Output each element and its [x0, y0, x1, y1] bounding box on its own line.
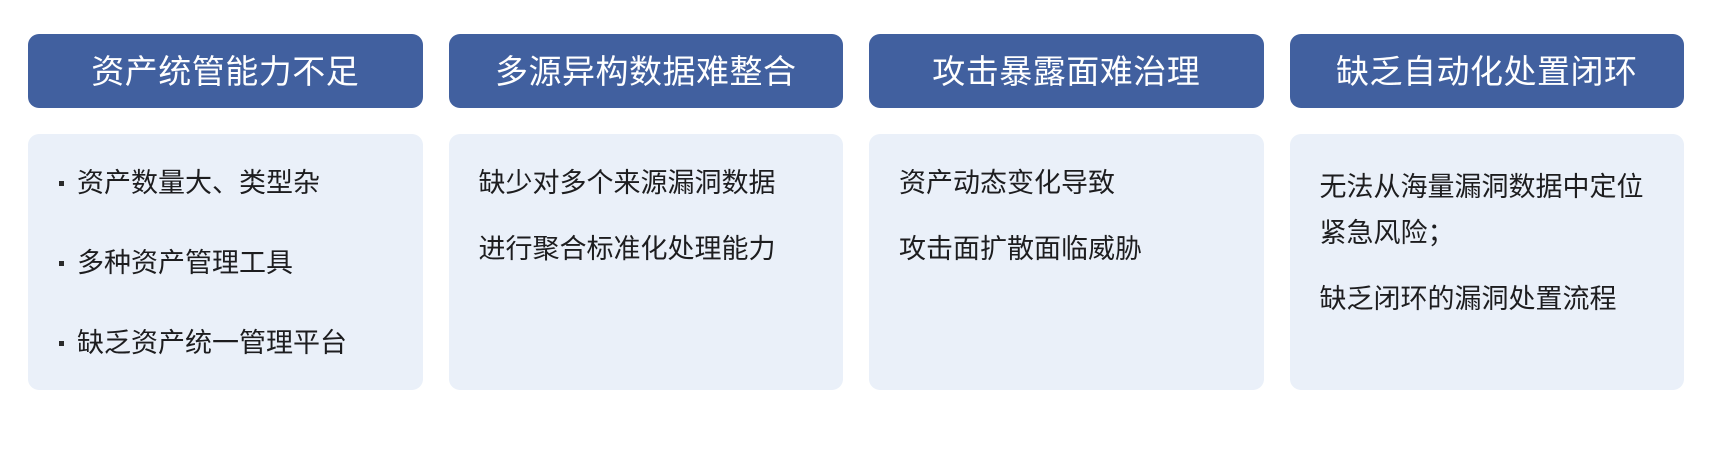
list-item-label: 缺少对多个来源漏洞数据 — [479, 164, 826, 202]
challenge-card-board: 资产统管能力不足 资产数量大、类型杂 多种资产管理工具 缺乏资产统一管理平台 多… — [0, 0, 1712, 458]
line-list-attack-surface: 资产动态变化导致 攻击面扩散面临威胁 — [887, 164, 1246, 268]
list-item-label: 资产动态变化导致 — [899, 164, 1246, 202]
challenge-card-multi-source-data: 多源异构数据难整合 缺少对多个来源漏洞数据 进行聚合标准化处理能力 — [449, 34, 844, 390]
list-item-label: 无法从海量漏洞数据中定位紧急风险； — [1320, 164, 1667, 256]
list-item: 多种资产管理工具 — [46, 244, 405, 282]
challenge-card-automation-loop: 缺乏自动化处置闭环 无法从海量漏洞数据中定位紧急风险； 缺乏闭环的漏洞处置流程 — [1290, 34, 1685, 390]
list-item: 缺乏资产统一管理平台 — [46, 324, 405, 362]
list-item-label: 进行聚合标准化处理能力 — [479, 230, 826, 268]
bullet-dot-icon — [59, 261, 64, 266]
card-header-asset-governance: 资产统管能力不足 — [28, 34, 423, 108]
list-item-label: 攻击面扩散面临威胁 — [899, 230, 1246, 268]
bullet-dot-icon — [59, 341, 64, 346]
card-body-asset-governance: 资产数量大、类型杂 多种资产管理工具 缺乏资产统一管理平台 — [28, 134, 423, 390]
list-item-label: 资产数量大、类型杂 — [77, 164, 320, 202]
card-header-attack-surface: 攻击暴露面难治理 — [869, 34, 1264, 108]
list-item-label: 缺乏闭环的漏洞处置流程 — [1320, 276, 1667, 322]
list-item: 资产数量大、类型杂 — [46, 164, 405, 202]
list-item-label: 多种资产管理工具 — [77, 244, 293, 282]
block-list-automation-loop: 无法从海量漏洞数据中定位紧急风险； 缺乏闭环的漏洞处置流程 — [1308, 164, 1667, 322]
card-body-multi-source-data: 缺少对多个来源漏洞数据 进行聚合标准化处理能力 — [449, 134, 844, 390]
challenge-card-attack-surface: 攻击暴露面难治理 资产动态变化导致 攻击面扩散面临威胁 — [869, 34, 1264, 390]
card-header-automation-loop: 缺乏自动化处置闭环 — [1290, 34, 1685, 108]
bullet-list-asset-governance: 资产数量大、类型杂 多种资产管理工具 缺乏资产统一管理平台 — [46, 164, 405, 362]
bullet-dot-icon — [59, 181, 64, 186]
challenge-card-asset-governance: 资产统管能力不足 资产数量大、类型杂 多种资产管理工具 缺乏资产统一管理平台 — [28, 34, 423, 390]
card-header-multi-source-data: 多源异构数据难整合 — [449, 34, 844, 108]
list-item-label: 缺乏资产统一管理平台 — [77, 324, 347, 362]
card-body-attack-surface: 资产动态变化导致 攻击面扩散面临威胁 — [869, 134, 1264, 390]
card-body-automation-loop: 无法从海量漏洞数据中定位紧急风险； 缺乏闭环的漏洞处置流程 — [1290, 134, 1685, 390]
line-list-multi-source-data: 缺少对多个来源漏洞数据 进行聚合标准化处理能力 — [467, 164, 826, 268]
